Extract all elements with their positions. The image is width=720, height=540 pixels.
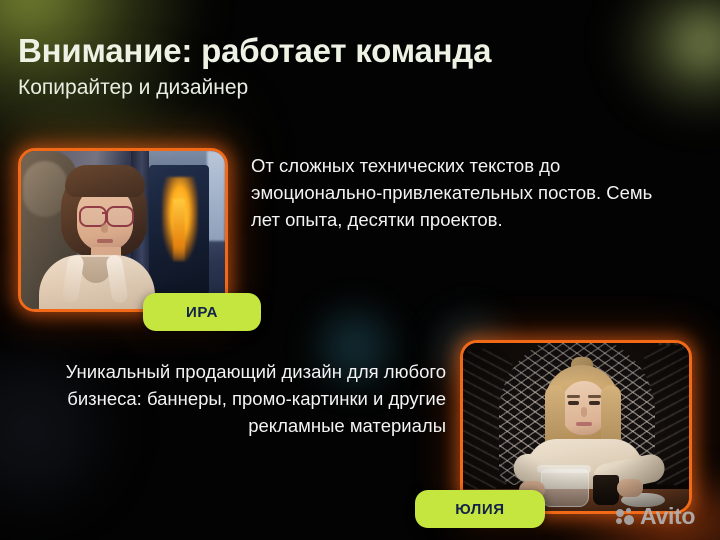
photo-card-yulia[interactable] [460, 340, 692, 514]
photo-card-ira[interactable] [18, 148, 228, 312]
header: Внимание: работает команда Копирайтер и … [18, 30, 678, 102]
avito-wordmark: Avito [640, 505, 695, 528]
name-badge-yulia-label: ЮЛИЯ [455, 501, 504, 518]
photo2-vignette [463, 343, 689, 511]
name-badge-yulia: ЮЛИЯ [415, 490, 545, 528]
avito-watermark: Avito [616, 505, 695, 528]
copy-block-copywriter: От сложных технических текстов до эмоцио… [251, 152, 671, 233]
page-subtitle: Копирайтер и дизайнер [18, 74, 678, 102]
promo-banner: Внимание: работает команда Копирайтер и … [0, 0, 720, 540]
photo-yulia [463, 343, 689, 511]
photo-ira [21, 151, 225, 309]
copy-block-designer: Уникальный продающий дизайн для любого б… [8, 358, 446, 439]
name-badge-ira: ИРА [143, 293, 261, 331]
photo1-warm-overlay [21, 151, 225, 309]
avito-logo-icon [616, 508, 635, 525]
name-badge-ira-label: ИРА [186, 304, 218, 321]
page-title: Внимание: работает команда [18, 30, 678, 72]
